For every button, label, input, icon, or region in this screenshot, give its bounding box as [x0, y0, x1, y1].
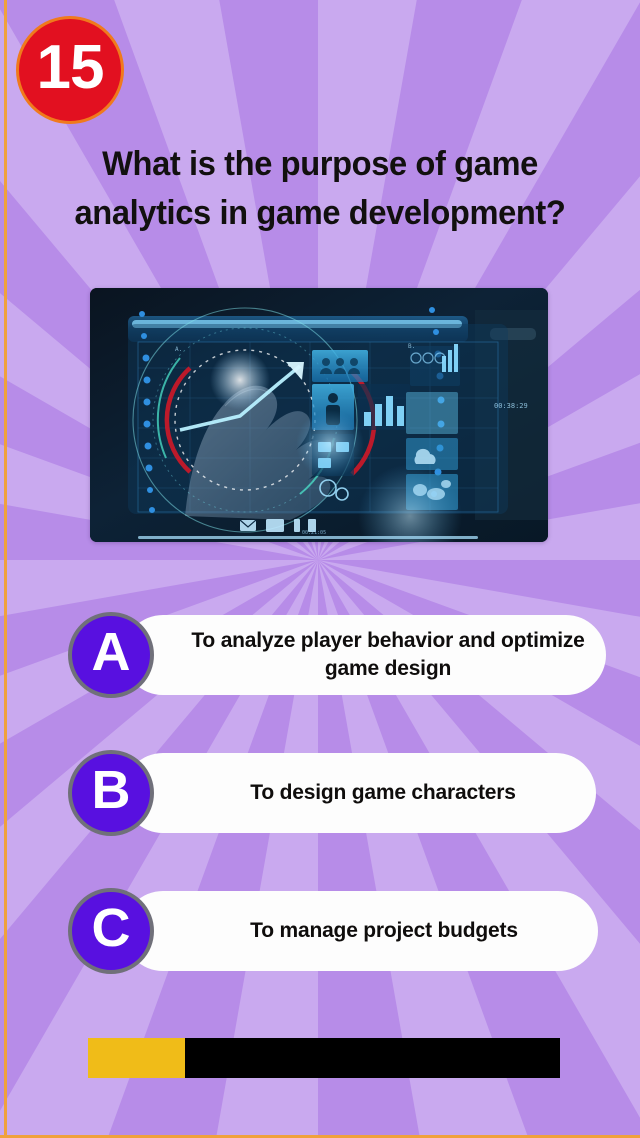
answer-option-c-letter: C [92, 901, 131, 955]
answer-option-a-pill[interactable]: To analyze player behavior and optimize … [123, 615, 606, 695]
svg-text:B.: B. [408, 343, 415, 350]
svg-text:A.: A. [175, 346, 182, 353]
question-text: What is the purpose of game analytics in… [32, 140, 608, 239]
progress-bar-fill [88, 1038, 185, 1078]
question-number: 15 [37, 37, 104, 99]
svg-text:00:38:29: 00:38:29 [494, 402, 528, 410]
quiz-slide: 15 What is the purpose of game analytics… [0, 0, 640, 1138]
answer-option-b-letter-circle[interactable]: B [68, 750, 154, 836]
answer-option-c-text: To manage project budgets [188, 917, 580, 945]
answer-option-c-letter-circle[interactable]: C [68, 888, 154, 974]
question-number-badge: 15 [16, 16, 124, 124]
left-accent-edge [4, 0, 7, 1138]
answer-option-a-text: To analyze player behavior and optimize … [188, 627, 588, 682]
answer-option-b-letter: B [92, 763, 131, 817]
svg-text:00:21:05: 00:21:05 [302, 530, 326, 536]
answer-option-a-letter-circle[interactable]: A [68, 612, 154, 698]
answer-option-c-pill[interactable]: To manage project budgets [123, 891, 598, 971]
answer-option-a-letter: A [92, 625, 131, 679]
progress-bar[interactable] [88, 1038, 560, 1078]
answer-option-b-pill[interactable]: To design game characters [123, 753, 596, 833]
answer-option-b-text: To design game characters [188, 779, 578, 807]
hero-image: 00:21:05 00:38:29 A. B. [90, 288, 548, 542]
